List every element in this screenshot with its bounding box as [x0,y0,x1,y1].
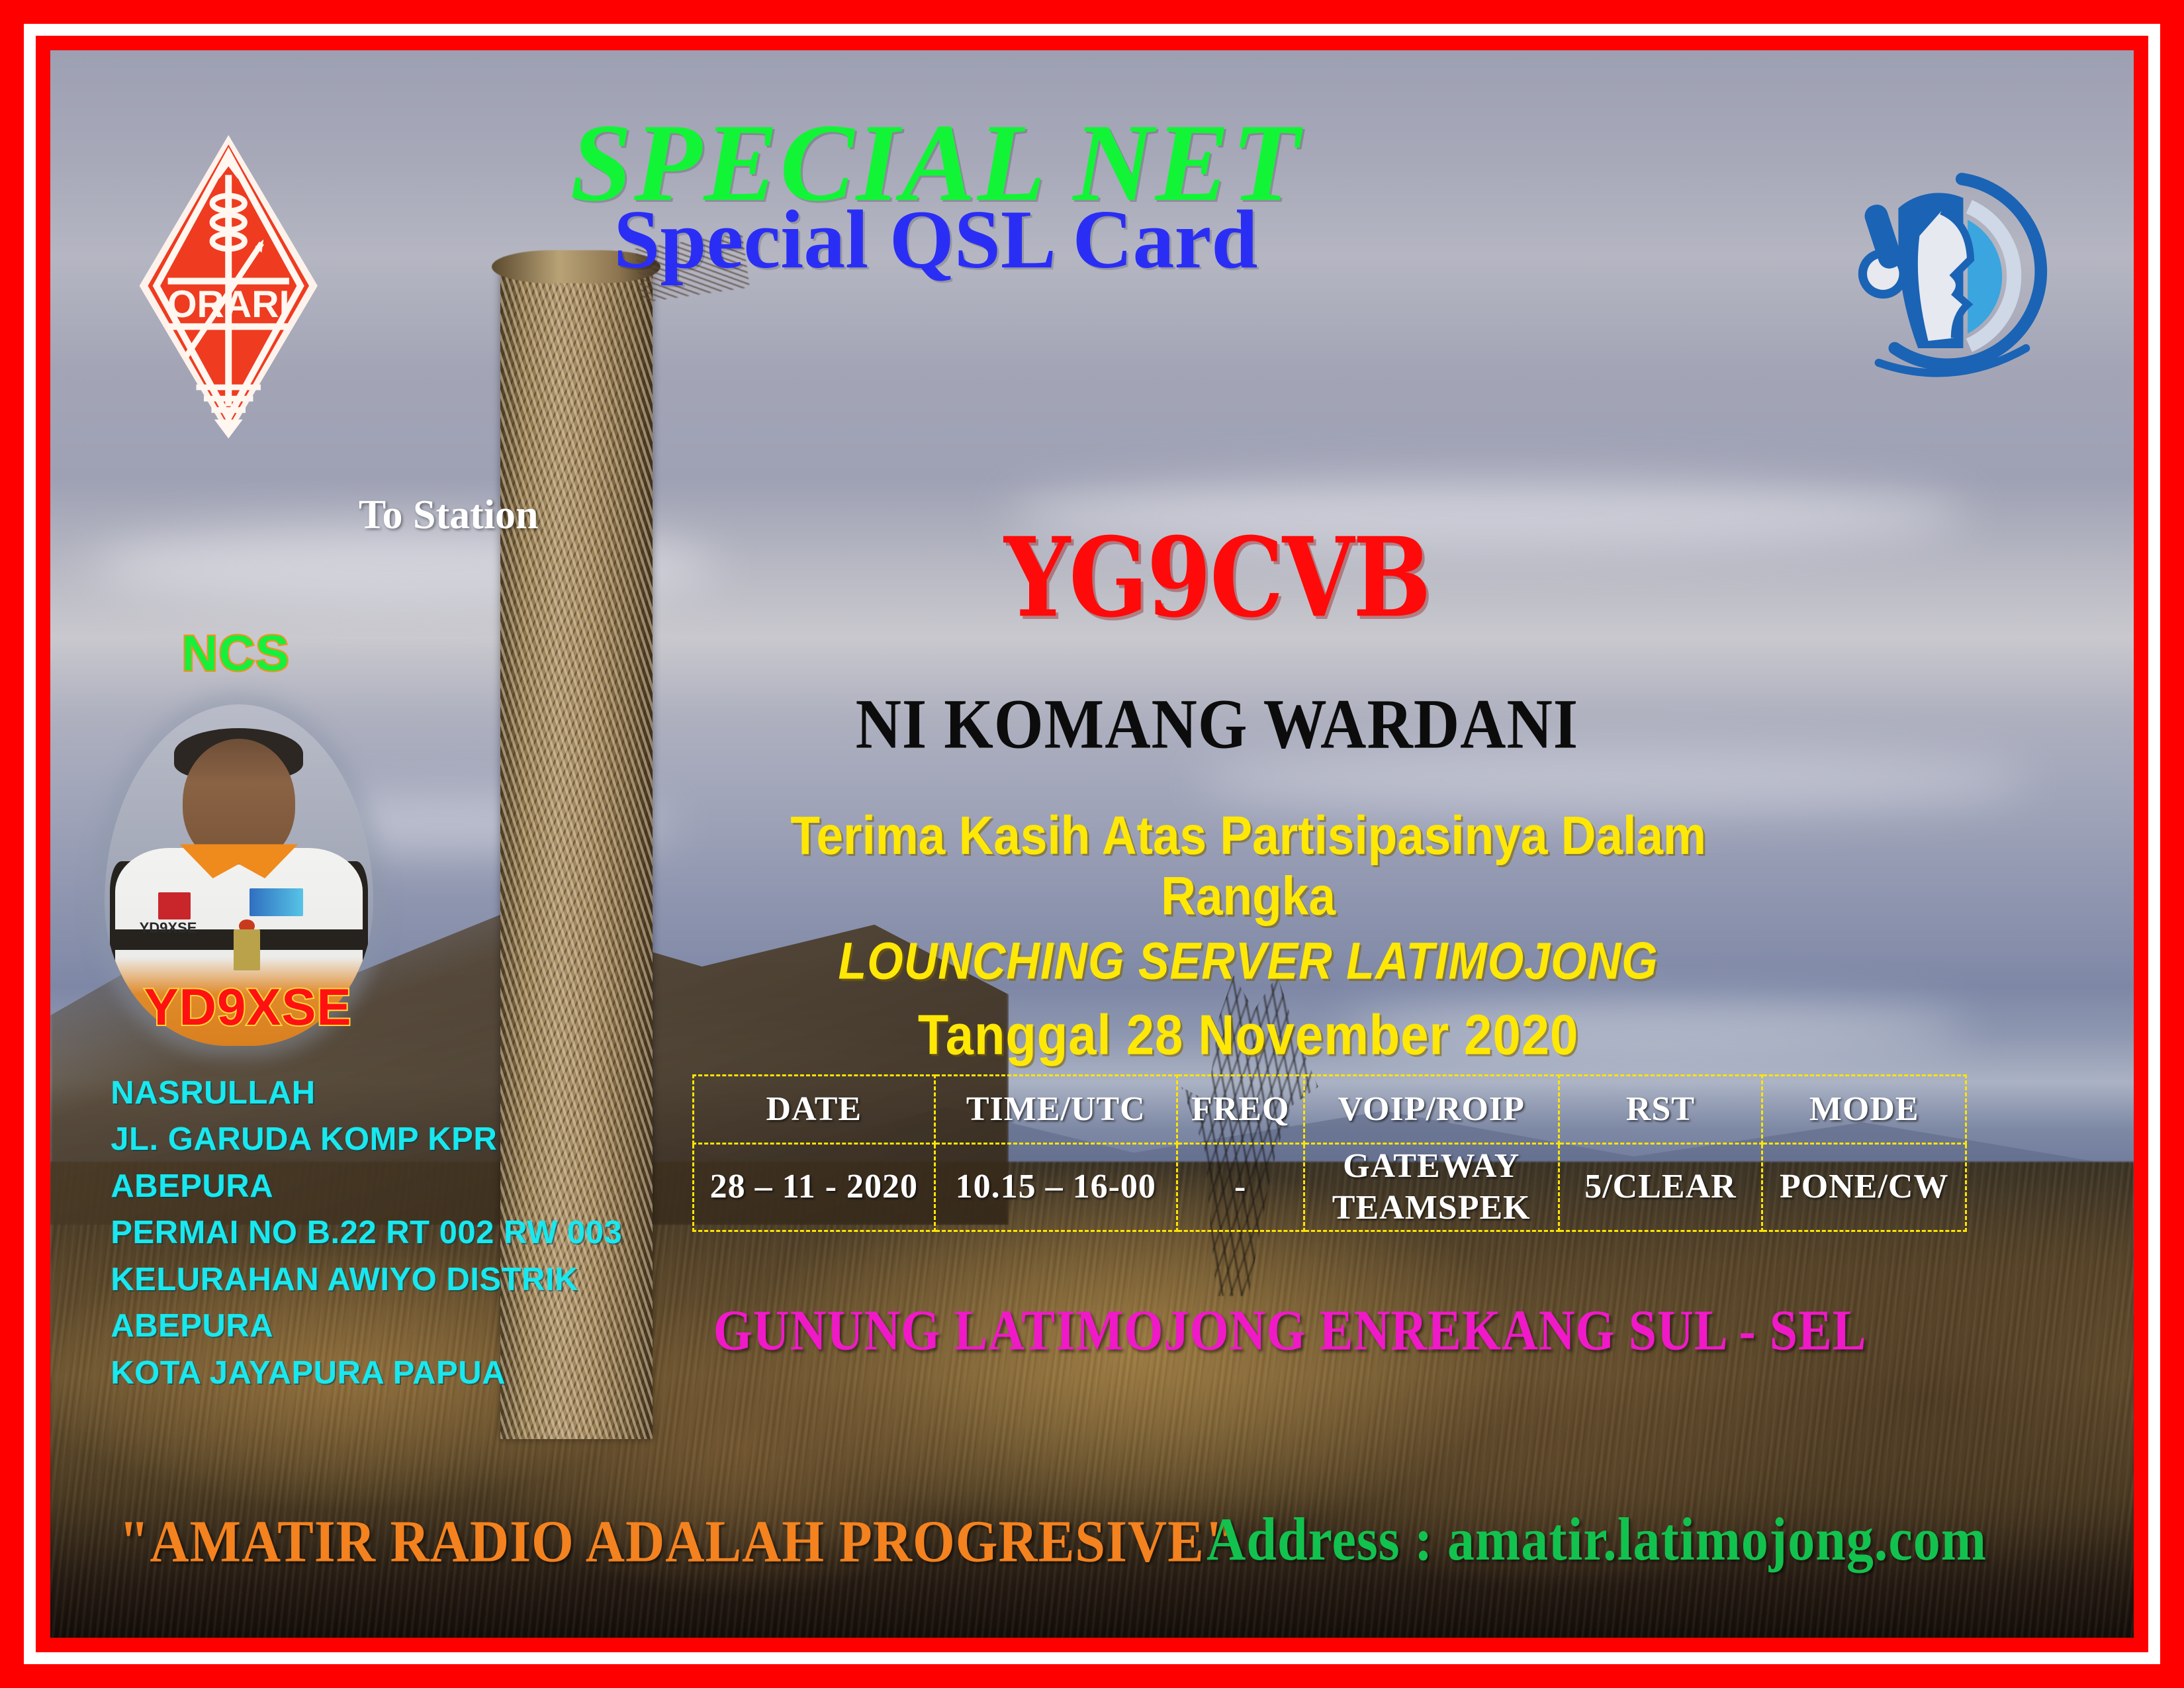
footer-address: Address : amatir.latimojong.com [1206,1505,1987,1574]
ncs-callsign: YD9XSE [144,977,352,1037]
page-subtitle-qsl-card: Special QSL Card [342,197,1529,284]
sender-address-block: NASRULLAH JL. GARUDA KOMP KPR ABEPURA PE… [111,1070,622,1397]
orari-logo-text: ORARI [167,283,290,326]
thanks-line-3: Tanggal 28 November 2020 [738,1003,1759,1067]
orari-logo: ORARI [134,107,323,465]
uniform-callsign-tag: YD9XSE [140,919,197,937]
to-station-label: To Station [359,492,539,539]
address-line: ABEPURA [111,1303,622,1350]
table-row: 28 – 11 - 2020 10.15 – 16-00 - GATEWAY T… [693,1143,1966,1231]
cell-date: 28 – 11 - 2020 [693,1143,934,1231]
cell-voip-roip-line1: GATEWAY [1306,1145,1557,1187]
thanks-line-1: Terima Kasih Atas Partisipasinya Dalam R… [738,806,1759,927]
column-header-date: DATE [693,1075,934,1143]
frame-white-band: ORARI [24,24,2160,1664]
cell-voip-roip: GATEWAY TEAMSPEK [1304,1143,1559,1231]
cell-voip-roip-line2: TEAMSPEK [1306,1187,1557,1229]
thanks-block: Terima Kasih Atas Partisipasinya Dalam R… [738,806,1759,1060]
address-line: PERMAI NO B.22 RT 002 RW 003 [111,1209,622,1256]
address-line: KOTA JAYAPURA PAPUA [111,1350,622,1397]
uniform-patch [158,892,191,919]
qsl-card: ORARI [0,0,2184,1688]
qso-log-table: DATE TIME/UTC FREQ VOIP/ROIP RST MODE 28… [692,1074,1968,1232]
table-header-row: DATE TIME/UTC FREQ VOIP/ROIP RST MODE [693,1075,1966,1143]
cell-freq: - [1177,1143,1304,1231]
address-line: KELURAHAN AWIYO DISTRIK [111,1256,622,1303]
operator-name: NI KOMANG WARDANI [738,688,1696,760]
thanks-line-2: LOUNCHING SERVER LATIMOJONG [738,931,1759,991]
uniform-club-logo [250,888,303,915]
frame-inner-red-band: ORARI [36,36,2148,1652]
address-line: ABEPURA [111,1163,622,1210]
cell-rst: 5/CLEAR [1559,1143,1762,1231]
cell-mode: PONE/CW [1762,1143,1966,1231]
ncs-label: NCS [181,625,289,682]
column-header-rst: RST [1559,1075,1762,1143]
id-badge [234,929,261,970]
location-line: GUNUNG LATIMOJONG ENREKANG SUL - SEL [644,1298,1936,1364]
station-callsign: YG9CVB [873,524,1561,633]
footer-slogan: "AMATIR RADIO ADALAH PROGRESIVE" [119,1507,1236,1575]
content-layer: ORARI [50,50,2134,1638]
headset-profile-logo [1852,120,2071,430]
address-line: JL. GARUDA KOMP KPR [111,1116,622,1163]
address-line: NASRULLAH [111,1070,622,1117]
column-header-voip-roip: VOIP/ROIP [1304,1075,1559,1143]
column-header-freq: FREQ [1177,1075,1304,1143]
column-header-mode: MODE [1762,1075,1966,1143]
card-photo-area: ORARI [50,50,2134,1638]
cell-time-utc: 10.15 – 16-00 [935,1143,1177,1231]
column-header-time-utc: TIME/UTC [935,1075,1177,1143]
